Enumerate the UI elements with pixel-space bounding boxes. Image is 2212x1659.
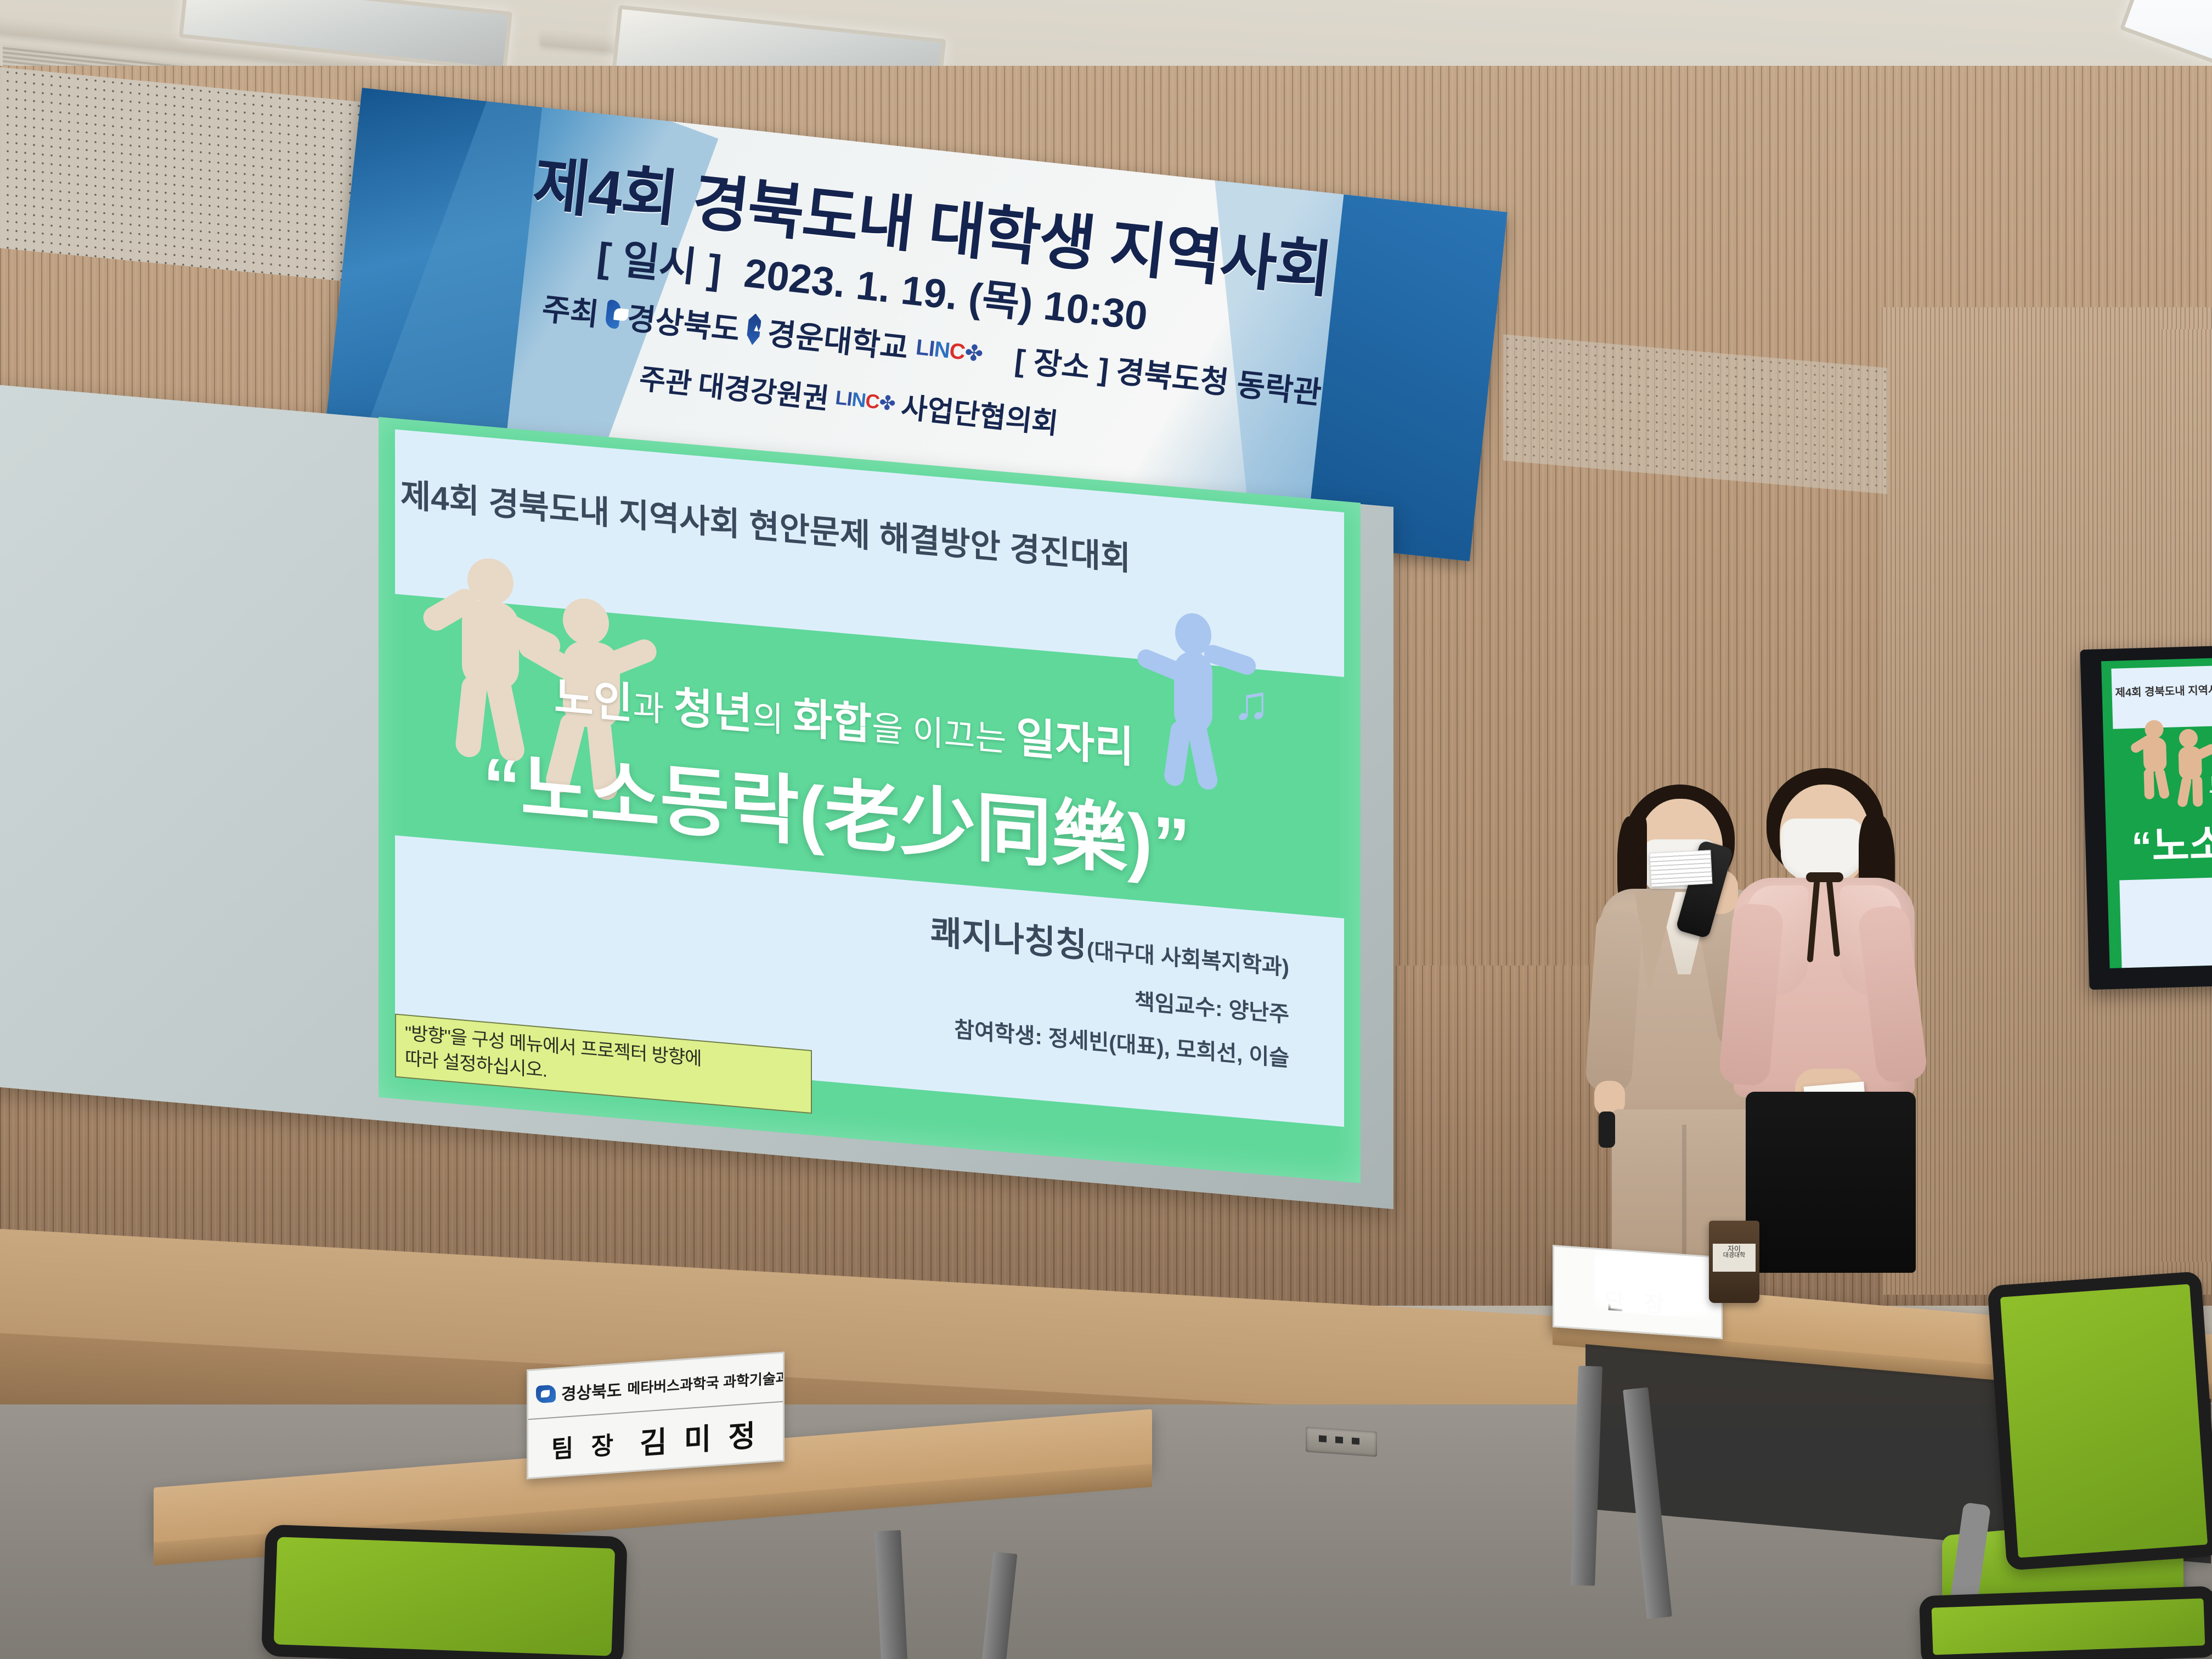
linc-logo-icon: LINC✤ — [915, 334, 984, 366]
gyeongsangbukdo-logo-icon-small — [536, 1384, 556, 1403]
seminar-room-photo: 제4회 경북도내 대학생 지역사회 현안문제 해결방안 경진대회 [ 일시 ] … — [0, 0, 2212, 1659]
tv-partial-subtitle: 노 — [2209, 768, 2212, 800]
nameplate-front-org: 경상북도 — [561, 1376, 622, 1405]
slide-subtitle-part5: 화합 — [793, 693, 872, 749]
projected-slide: 제4회 경북도내 지역사회 현안문제 해결방안 경진대회 ♫ — [379, 417, 1361, 1183]
tv-partial-title: “노소 — [2131, 811, 2212, 873]
tv-dancing-people-icon — [2134, 718, 2212, 792]
linc-logo-icon-2: LINC✤ — [834, 386, 896, 415]
wall-tv-monitor: 제4회 경북도내 지역사회 현 노 “노소 — [2080, 645, 2212, 990]
presenter-right — [1723, 768, 1997, 1262]
slide-subtitle-part1: 노인 — [554, 673, 633, 728]
cup-label-line2: 대경대학 — [1713, 1252, 1755, 1259]
tv-header-text: 제4회 경북도내 지역사회 현 — [2115, 680, 2212, 699]
microphone-id-card — [1649, 850, 1712, 887]
gyeongsangbukdo-logo-icon — [605, 299, 621, 329]
slide-subtitle-part3: 청년 — [674, 683, 753, 738]
banner-organizer-suffix: 사업단협의회 — [899, 384, 1060, 442]
pegboard-panel — [0, 66, 379, 284]
nameplate-front-title: 팀 장 — [551, 1425, 619, 1465]
nameplate-rear: 단 장 — [1553, 1245, 1723, 1339]
chair-front-right[interactable] — [1987, 1271, 2212, 1571]
coffee-cup: 자이 대경대학 — [1709, 1221, 1759, 1303]
banner-organizer-value: 대경강원권 — [696, 362, 831, 417]
presenter-right-skirt — [1746, 1092, 1916, 1273]
slide-subtitle-part2: 과 — [633, 689, 664, 729]
music-note-icon: ♫ — [1232, 676, 1270, 730]
presenter-right-neck-ribbon — [1806, 872, 1843, 882]
kyungwoon-univ-logo-icon — [746, 313, 762, 346]
slide-subtitle-part7: 일자리 — [1016, 713, 1134, 772]
banner-organizer-label: 주관 — [637, 356, 694, 402]
tv-bottom-band — [2119, 876, 2212, 968]
presenter-left-remote-clicker[interactable] — [1599, 1111, 1615, 1148]
chair-right-2[interactable] — [1919, 1586, 2212, 1659]
nameplate-front: 경상북도 메타버스과학국 과학기술과 팀 장 김 미 정 — [527, 1352, 785, 1480]
banner-date-label: [ 일시 ] — [595, 234, 724, 292]
tv-screen: 제4회 경북도내 지역사회 현 노 “노소 — [2101, 657, 2212, 968]
nameplate-front-person: 김 미 정 — [640, 1411, 760, 1463]
nameplate-rear-glare — [1594, 1245, 1723, 1322]
slide-team-dept: (대구대 사회복지학과) — [1087, 938, 1289, 980]
banner-host-org2: 경운대학교 — [765, 309, 911, 368]
coffee-cup-label: 자이 대경대학 — [1713, 1244, 1755, 1272]
banner-host-label: 주최 — [540, 284, 601, 335]
slide-subtitle-part6: 을 이끄는 — [872, 709, 1006, 759]
floor-power-outlet[interactable] — [1306, 1426, 1377, 1457]
chair-front-left[interactable] — [261, 1525, 628, 1659]
banner-place-label: [ 장소 ] — [1013, 336, 1111, 390]
presenter-left-trouser-split — [1682, 1125, 1686, 1262]
slide-team-name: 쾌지나칭칭 — [930, 913, 1087, 965]
slide-subtitle-part4: 의 — [752, 699, 783, 740]
nameplate-front-dept: 메타버스과학국 과학기술과 — [627, 1367, 785, 1398]
